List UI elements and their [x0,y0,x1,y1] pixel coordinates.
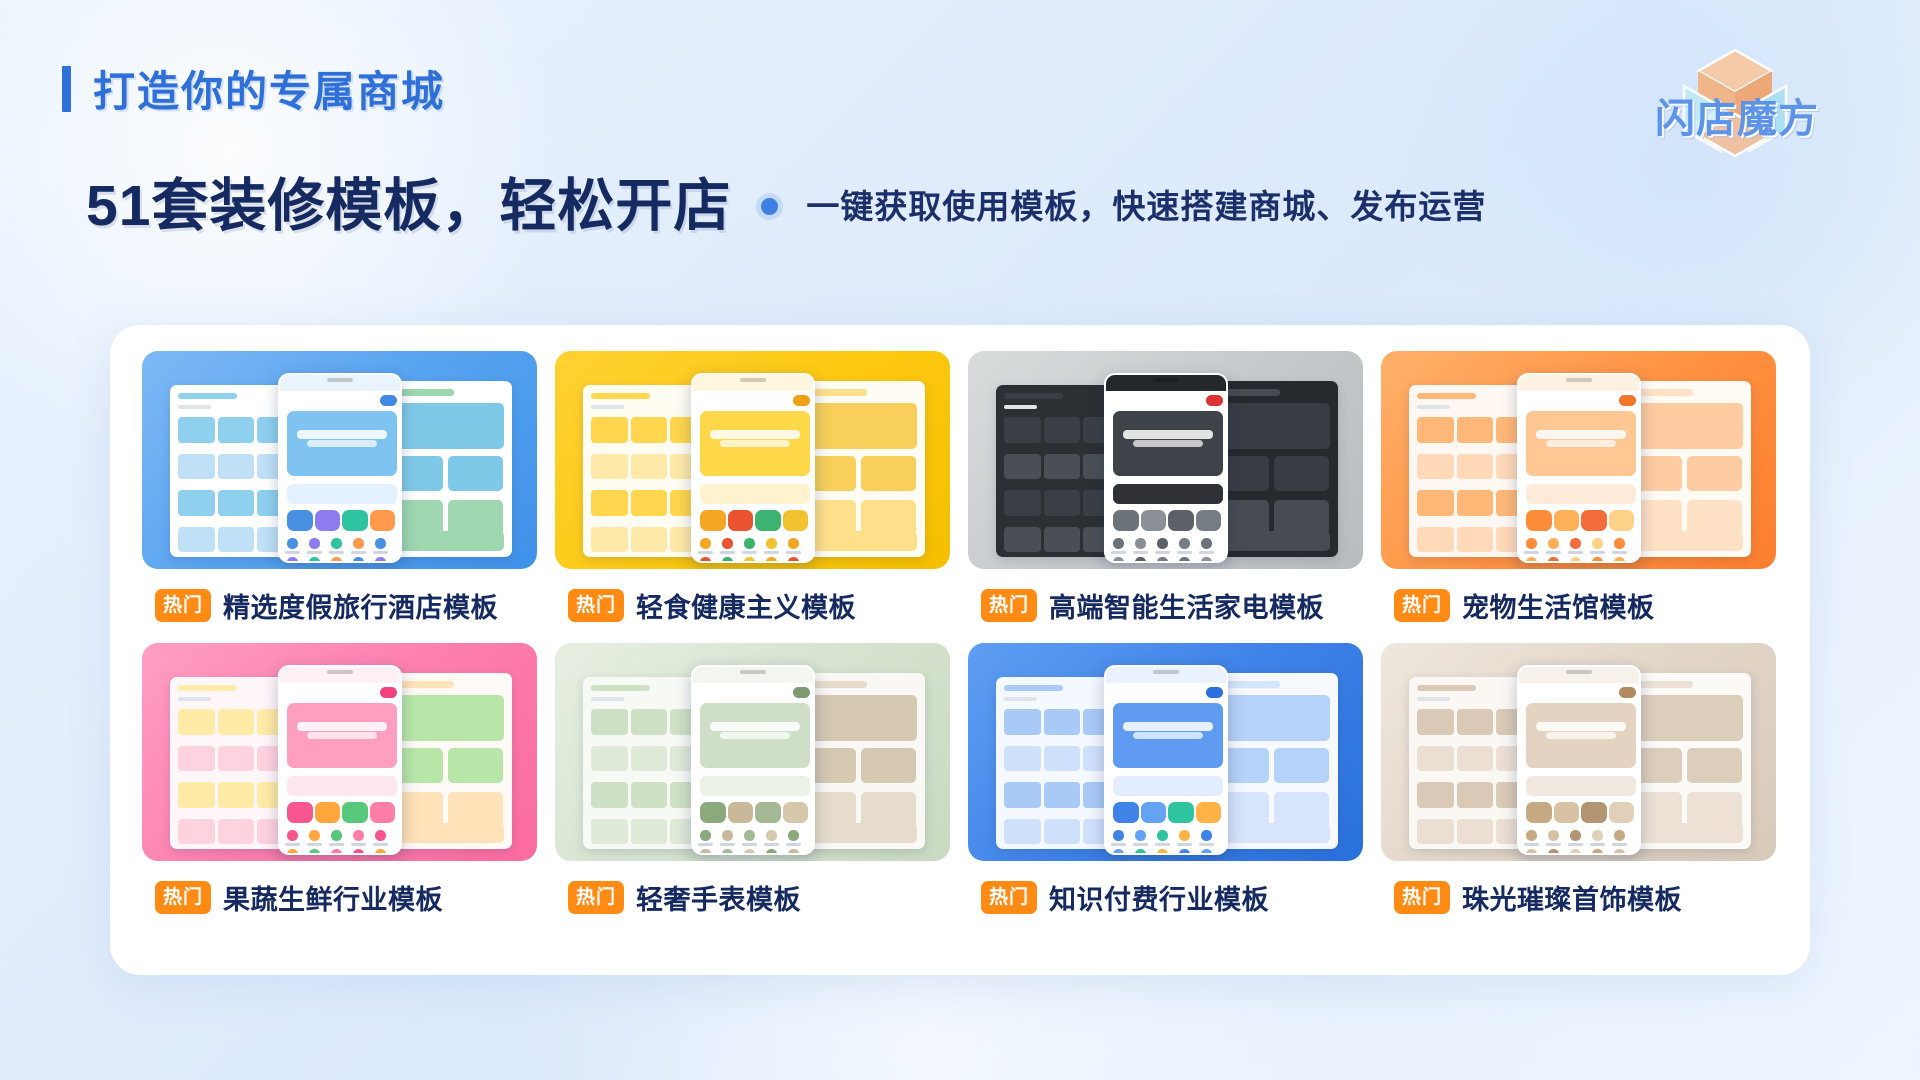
template-caption: 热门高端智能生活家电模板 [981,586,1363,625]
template-caption: 热门宠物生活馆模板 [1394,586,1776,625]
template-label: 高端智能生活家电模板 [1049,586,1324,625]
template-card[interactable]: 热门宠物生活馆模板 [1381,351,1776,625]
status-badge: 热门 [1394,881,1450,914]
headline-row: 51套装修模板，轻松开店 一键获取使用模板，快速搭建商城、发布运营 [86,160,1486,242]
template-card[interactable]: 热门高端智能生活家电模板 [968,351,1363,625]
template-caption: 热门果蔬生鲜行业模板 [155,878,537,917]
template-thumbnail[interactable] [555,351,950,569]
template-caption: 热门轻奢手表模板 [568,878,950,917]
template-card[interactable]: 热门轻食健康主义模板 [555,351,950,625]
template-caption: 热门轻食健康主义模板 [568,586,950,625]
template-label: 轻奢手表模板 [636,878,801,917]
page-subtitle: 一键获取使用模板，快速搭建商城、发布运营 [806,180,1486,228]
template-card[interactable]: 热门知识付费行业模板 [968,643,1363,917]
status-badge: 热门 [981,881,1037,914]
template-caption: 热门珠光璀璨首饰模板 [1394,878,1776,917]
template-thumbnail[interactable] [1381,351,1776,569]
eyebrow-label: 打造你的专属商城 [93,58,445,119]
status-badge: 热门 [568,881,624,914]
template-thumbnail[interactable] [1381,643,1776,861]
template-card[interactable]: 热门轻奢手表模板 [555,643,950,917]
dot-separator-icon [761,198,778,215]
template-caption: 热门精选度假旅行酒店模板 [155,586,537,625]
templates-panel: 热门精选度假旅行酒店模板热门轻食健康主义模板热门高端智能生活家电模板热门宠物生活… [110,325,1810,975]
status-badge: 热门 [568,589,624,622]
template-label: 知识付费行业模板 [1049,878,1269,917]
status-badge: 热门 [155,589,211,622]
template-thumbnail[interactable] [142,643,537,861]
template-label: 轻食健康主义模板 [636,586,856,625]
template-thumbnail[interactable] [555,643,950,861]
brand-logo-text: 闪店魔方 [1632,86,1842,144]
brand-logo: 闪店魔方 [1632,42,1842,162]
template-caption: 热门知识付费行业模板 [981,878,1363,917]
template-card[interactable]: 热门果蔬生鲜行业模板 [142,643,537,917]
template-thumbnail[interactable] [968,351,1363,569]
template-thumbnail[interactable] [142,351,537,569]
template-card[interactable]: 热门精选度假旅行酒店模板 [142,351,537,625]
template-label: 珠光璀璨首饰模板 [1462,878,1682,917]
page-title: 51套装修模板，轻松开店 [86,160,731,242]
template-label: 果蔬生鲜行业模板 [223,878,443,917]
templates-grid: 热门精选度假旅行酒店模板热门轻食健康主义模板热门高端智能生活家电模板热门宠物生活… [142,351,1778,917]
template-card[interactable]: 热门珠光璀璨首饰模板 [1381,643,1776,917]
template-label: 精选度假旅行酒店模板 [223,586,498,625]
template-label: 宠物生活馆模板 [1462,586,1655,625]
template-thumbnail[interactable] [968,643,1363,861]
eyebrow-title: 打造你的专属商城 [62,58,445,119]
accent-bar-icon [62,66,71,112]
status-badge: 热门 [1394,589,1450,622]
status-badge: 热门 [155,881,211,914]
status-badge: 热门 [981,589,1037,622]
